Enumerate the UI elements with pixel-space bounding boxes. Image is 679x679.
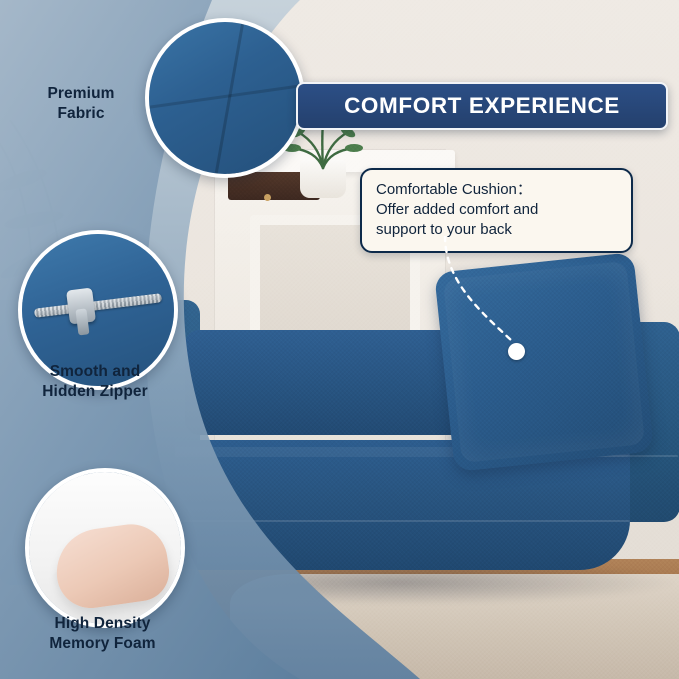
callout-label-line1: High Density xyxy=(20,614,185,634)
tooltip-leader-line xyxy=(440,236,530,356)
callout-label-line2: Memory Foam xyxy=(20,634,185,654)
callout-label-line2: Hidden Zipper xyxy=(10,382,180,402)
callout-label-hidden-zipper: Smooth and Hidden Zipper xyxy=(10,362,180,402)
callout-circle-memory-foam xyxy=(25,468,185,628)
callout-circle-premium-fabric xyxy=(145,18,305,178)
tooltip-anchor-dot xyxy=(508,343,525,360)
banner-title: COMFORT EXPERIENCE xyxy=(344,93,620,119)
tooltip-line-2: Offer added comfort and xyxy=(376,200,619,220)
callout-label-premium-fabric: Premium Fabric xyxy=(16,84,146,124)
tooltip-line-1: Comfortable Cushion： xyxy=(376,180,619,200)
product-feature-image: Premium Fabric Smooth and Hidden Zipper … xyxy=(0,0,679,679)
comfort-experience-banner: COMFORT EXPERIENCE xyxy=(296,82,668,130)
sofa-seam-line xyxy=(150,520,630,522)
zipper-pull-icon xyxy=(66,287,96,324)
callout-label-memory-foam: High Density Memory Foam xyxy=(20,614,185,654)
callout-label-line1: Smooth and xyxy=(10,362,180,382)
callout-label-line2: Fabric xyxy=(16,104,146,124)
callout-label-line1: Premium xyxy=(16,84,146,104)
